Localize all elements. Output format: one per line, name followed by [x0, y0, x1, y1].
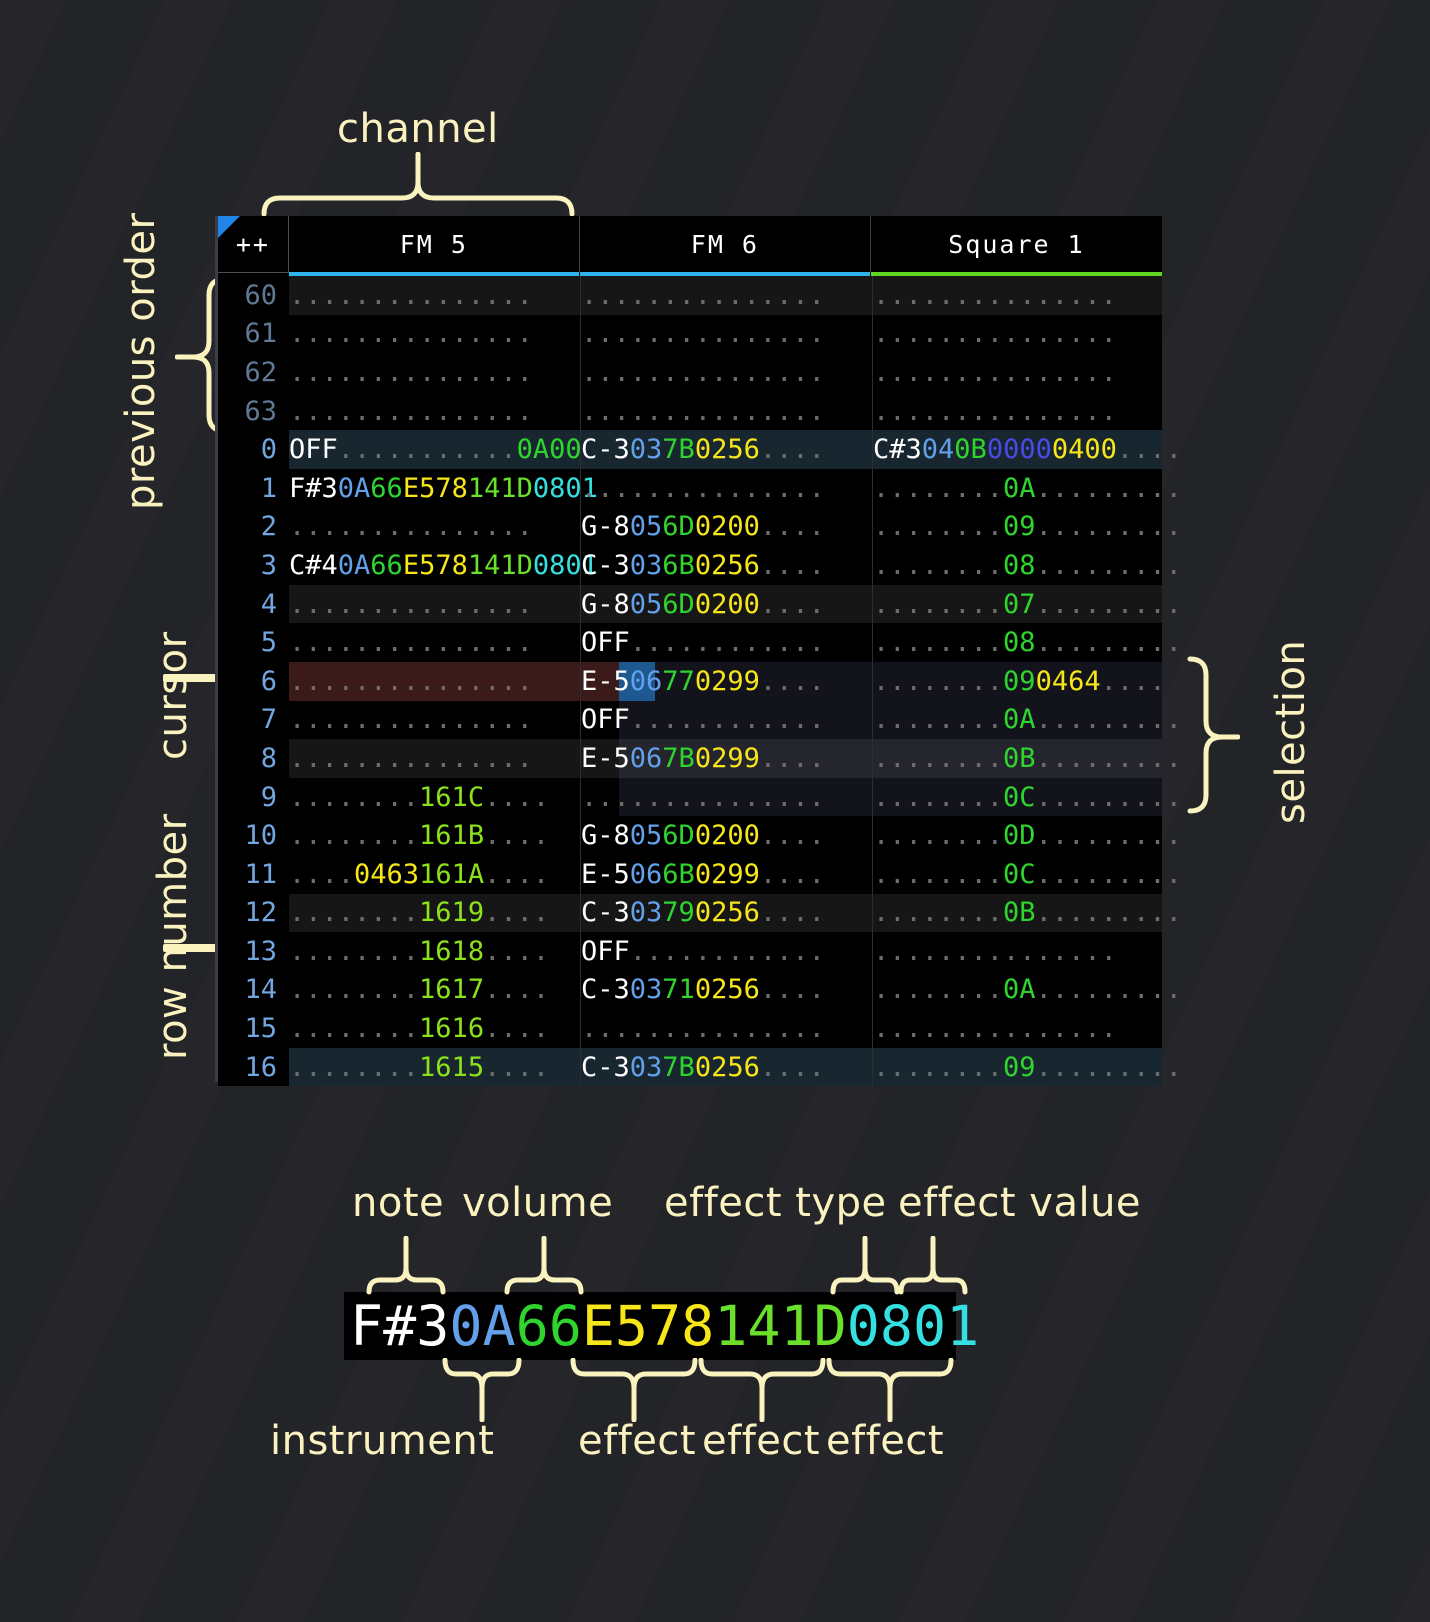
- row-cells: ........................................…: [289, 276, 1165, 315]
- cell-segment-vol: 0C: [1003, 859, 1036, 890]
- annotation-previous-order: previous order: [118, 213, 164, 510]
- annotation-effect-type: effect type: [664, 1180, 887, 1226]
- pattern-row[interactable]: 0OFF...........0A00C-3037B0256....C#3040…: [218, 430, 1162, 469]
- row-number: 63: [218, 392, 289, 431]
- row-number: 14: [218, 971, 289, 1010]
- pattern-cell[interactable]: ...............: [873, 353, 1165, 392]
- cell-segment-dot: ....: [1117, 434, 1182, 465]
- cell-segment-yel: 04: [1052, 434, 1085, 465]
- row-number: 2: [218, 508, 289, 547]
- cell-segment-ins: 05: [630, 820, 663, 851]
- cell-segment-ins: 03: [630, 897, 663, 928]
- channel-header-label: Square 1: [948, 230, 1084, 259]
- cell-segment-dot: ........: [289, 974, 419, 1005]
- cell-segment-vol: 09: [1003, 511, 1036, 542]
- cell-segment-dot: .........: [1036, 859, 1182, 890]
- cell-segment-dot: ...............: [873, 357, 1117, 388]
- pattern-cell[interactable]: ........08.........: [873, 546, 1165, 585]
- row-cells: ........1615....C-3037B0256............0…: [289, 1048, 1165, 1087]
- pattern-cell[interactable]: ...............: [289, 276, 581, 315]
- cell-segment-vol: 66: [370, 473, 403, 504]
- detail-segment-fxg: 1D: [781, 1294, 847, 1358]
- cell-segment-fx3: 08: [533, 473, 566, 504]
- pattern-cell[interactable]: OFF............: [581, 623, 873, 662]
- cell-segment-ins: 05: [630, 589, 663, 620]
- channel-header-fm6[interactable]: FM 6: [580, 216, 871, 272]
- row-number: 62: [218, 353, 289, 392]
- row-cells: ...............OFF....................08…: [289, 623, 1165, 662]
- header-divider: [218, 272, 289, 273]
- cell-segment-fx2: 6D: [662, 820, 695, 851]
- cell-segment-dot: ........: [873, 859, 1003, 890]
- row-cells: ........161B....G-8056D0200............0…: [289, 816, 1165, 855]
- pattern-row[interactable]: 63......................................…: [218, 392, 1162, 431]
- channel-header-fm5[interactable]: FM 5: [289, 216, 580, 272]
- cell-segment-dot: ....: [484, 1052, 549, 1083]
- cell-segment-fx2: 6B: [662, 550, 695, 581]
- row-number: 1: [218, 469, 289, 508]
- cell-segment-note: G-8: [581, 511, 630, 542]
- pattern-cell[interactable]: ...............: [581, 353, 873, 392]
- pattern-cell[interactable]: ...............: [873, 1009, 1165, 1048]
- row-cells: ...............E-506770299............09…: [289, 662, 1165, 701]
- cell-segment-note: C#3: [873, 434, 922, 465]
- cell-segment-dot: ...............: [581, 357, 825, 388]
- cell-segment-note: OFF: [581, 627, 630, 658]
- pattern-cell[interactable]: C-3036B0256....: [581, 546, 873, 585]
- cell-segment-fxg: 1D: [500, 550, 533, 581]
- cell-segment-dot: ....: [760, 897, 825, 928]
- row-number: 61: [218, 315, 289, 354]
- pattern-cell[interactable]: ...............: [581, 469, 873, 508]
- detail-segment-fx1: 78: [648, 1294, 714, 1358]
- cell-segment-dot: ........: [289, 1052, 419, 1083]
- pattern-cell[interactable]: ........0C.........: [873, 778, 1165, 817]
- cell-segment-dot: ....: [760, 666, 825, 697]
- row-cells: ........1618....OFF.....................…: [289, 932, 1165, 971]
- pattern-row[interactable]: 3C#40A66E578141D0801C-3036B0256.........…: [218, 546, 1162, 585]
- pattern-cell[interactable]: ...............: [289, 353, 581, 392]
- pattern-cell[interactable]: ........1619....: [289, 894, 581, 933]
- cell-segment-fx1: 02: [695, 743, 728, 774]
- pattern-row[interactable]: 8...............E-5067B0299............0…: [218, 739, 1162, 778]
- note-brace: [366, 1236, 446, 1296]
- cell-segment-dot: ...............: [289, 704, 533, 735]
- cell-segment-ins: 06: [630, 743, 663, 774]
- pattern-row[interactable]: 13........1618....OFF...................…: [218, 932, 1162, 971]
- pattern-row[interactable]: 11....0463161A....E-5066B0299...........…: [218, 855, 1162, 894]
- cell-segment-dot: ....: [760, 859, 825, 890]
- detail-segment-fxg: 14: [714, 1294, 780, 1358]
- cell-segment-vol: 00: [549, 434, 582, 465]
- cell-segment-dot: ....: [760, 974, 825, 1005]
- cell-segment-volb: 1615: [419, 1052, 484, 1083]
- row-number: 5: [218, 623, 289, 662]
- cell-segment-dot: ........: [873, 1052, 1003, 1083]
- cell-segment-note: C-3: [581, 974, 630, 1005]
- pattern-row[interactable]: 62......................................…: [218, 353, 1162, 392]
- cell-segment-dot: ....: [289, 859, 354, 890]
- cell-segment-dot: ....: [484, 897, 549, 928]
- cell-segment-fx2: 7B: [662, 1052, 695, 1083]
- pattern-cell[interactable]: C#40A66E578141D0801: [289, 546, 581, 585]
- cell-segment-fx1: 02: [695, 974, 728, 1005]
- pattern-cell[interactable]: ........0C.........: [873, 855, 1165, 894]
- pattern-cell[interactable]: OFF............: [581, 701, 873, 740]
- cell-segment-fx1: 00: [727, 820, 760, 851]
- pattern-cell[interactable]: ...............: [289, 508, 581, 547]
- corner-marker-icon: [218, 216, 240, 238]
- cell-segment-ins: 03: [630, 434, 663, 465]
- row-cells: ........................................…: [289, 392, 1165, 431]
- cell-segment-dot: ...............: [873, 936, 1117, 967]
- cell-segment-dot: ....: [484, 859, 549, 890]
- pattern-row[interactable]: 2...............G-8056D0200............0…: [218, 508, 1162, 547]
- row-cells: ........................................…: [289, 315, 1165, 354]
- cell-segment-dot: .........: [1036, 511, 1182, 542]
- channel-header-square1[interactable]: Square 1: [871, 216, 1162, 272]
- cell-segment-vol: 09: [1003, 666, 1036, 697]
- cell-segment-dot: ...............: [289, 666, 533, 697]
- row-number: 16: [218, 1048, 289, 1087]
- cell-segment-dot: .........: [1036, 1052, 1182, 1083]
- cell-segment-dot: ...............: [581, 473, 825, 504]
- cell-segment-fx1: 56: [727, 897, 760, 928]
- cell-segment-ins: 0A: [338, 550, 371, 581]
- pattern-cell[interactable]: ...............: [581, 315, 873, 354]
- pattern-cell[interactable]: ........09.........: [873, 508, 1165, 547]
- row-number: 10: [218, 816, 289, 855]
- row-number: 15: [218, 1009, 289, 1048]
- cell-segment-ins: 03: [630, 550, 663, 581]
- cell-segment-dot: ........: [873, 627, 1003, 658]
- cell-segment-dot: ...............: [581, 396, 825, 427]
- pattern-row[interactable]: 9........161C...........................…: [218, 778, 1162, 817]
- effect-c-brace: [826, 1358, 954, 1422]
- cell-segment-note: G-8: [581, 820, 630, 851]
- pattern-cell[interactable]: ........161C....: [289, 778, 581, 817]
- cell-segment-fxg: 14: [468, 473, 501, 504]
- pattern-cell[interactable]: E-5067B0299....: [581, 739, 873, 778]
- cell-segment-fx1: 02: [695, 589, 728, 620]
- cell-segment-fx1: 02: [695, 434, 728, 465]
- cell-segment-dot: .........: [1036, 897, 1182, 928]
- cell-segment-volb: 161C: [419, 782, 484, 813]
- cell-segment-fx1: 78: [435, 550, 468, 581]
- row-cells: ........1616............................…: [289, 1009, 1165, 1048]
- pattern-row[interactable]: 5...............OFF....................0…: [218, 623, 1162, 662]
- cell-segment-dot: ...............: [581, 1013, 825, 1044]
- row-number: 7: [218, 701, 289, 740]
- cell-segment-vol: 0A: [517, 434, 550, 465]
- pattern-cell[interactable]: ...............: [873, 932, 1165, 971]
- cell-segment-fx1: 99: [727, 859, 760, 890]
- cell-segment-ins: 03: [630, 974, 663, 1005]
- cell-segment-volb: 161A: [419, 859, 484, 890]
- pattern-cell[interactable]: G-8056D0200....: [581, 816, 873, 855]
- cell-segment-vol: 08: [1003, 627, 1036, 658]
- cell-segment-fx1: 00: [727, 589, 760, 620]
- pattern-cell[interactable]: C-3037B0256....: [581, 430, 873, 469]
- pattern-cell[interactable]: ........0A.........: [873, 701, 1165, 740]
- cell-segment-fx2: 77: [662, 666, 695, 697]
- row-number: 11: [218, 855, 289, 894]
- cell-segment-vol: 07: [1003, 589, 1036, 620]
- pattern-cell[interactable]: ........1618....: [289, 932, 581, 971]
- cell-segment-ins: 06: [630, 666, 663, 697]
- pattern-cell[interactable]: ........1615....: [289, 1048, 581, 1087]
- pattern-cell[interactable]: ........07.........: [873, 585, 1165, 624]
- row-number: 12: [218, 894, 289, 933]
- pattern-cell[interactable]: ........1616....: [289, 1009, 581, 1048]
- cell-segment-vol: 0D: [1003, 820, 1036, 851]
- cell-segment-note: OFF: [581, 936, 630, 967]
- pattern-row[interactable]: 1F#30A66E578141D0801....................…: [218, 469, 1162, 508]
- cell-segment-fx1: E5: [403, 550, 436, 581]
- cell-segment-dot: ............: [630, 627, 825, 658]
- row-cells: F#30A66E578141D0801.....................…: [289, 469, 1165, 508]
- detail-segment-note: F#3: [350, 1294, 449, 1358]
- cell-segment-dot: ....: [484, 820, 549, 851]
- effect-a-brace: [570, 1358, 698, 1422]
- cell-segment-fx1: 02: [695, 511, 728, 542]
- cell-segment-fx1: 02: [695, 666, 728, 697]
- cell-segment-dot: ...............: [581, 782, 825, 813]
- cell-segment-vol: 08: [1003, 550, 1036, 581]
- pattern-cell[interactable]: E-506770299....: [581, 662, 873, 701]
- effect-b-brace: [698, 1358, 826, 1422]
- pattern-cell[interactable]: C-3037B0256....: [581, 1048, 873, 1087]
- cell-segment-ins: 0A: [338, 473, 371, 504]
- cell-segment-dot: ........: [873, 820, 1003, 851]
- pattern-cell[interactable]: G-8056D0200....: [581, 508, 873, 547]
- cell-segment-yel: 00: [1084, 434, 1117, 465]
- cell-segment-fx1: 56: [727, 550, 760, 581]
- annotation-instrument: instrument: [270, 1418, 494, 1464]
- pattern-cell[interactable]: ...............: [873, 276, 1165, 315]
- cell-segment-fx1: 02: [695, 820, 728, 851]
- row-cells: OFF...........0A00C-3037B0256....C#3040B…: [289, 430, 1165, 469]
- row-cells: ...............G-8056D0200............07…: [289, 585, 1165, 624]
- annotation-volume: volume: [462, 1180, 613, 1226]
- annotation-cursor: cursor: [150, 631, 196, 760]
- pattern-editor[interactable]: ++ FM 5 FM 6 Square 1 60................…: [215, 216, 1162, 1082]
- row-cells: ....0463161A....E-5066B0299............0…: [289, 855, 1165, 894]
- cell-segment-yel: 0463: [354, 859, 419, 890]
- cell-segment-vol: 66: [370, 550, 403, 581]
- pattern-cell[interactable]: ...............: [289, 315, 581, 354]
- cell-segment-dot: ...............: [289, 396, 533, 427]
- annotation-effect-a: effect: [578, 1418, 696, 1464]
- pattern-row[interactable]: 12........1619....C-303790256...........…: [218, 894, 1162, 933]
- cell-segment-dot: .........: [1036, 627, 1182, 658]
- pattern-cell[interactable]: ........0A.........: [873, 971, 1165, 1010]
- pattern-cell[interactable]: ...............: [581, 778, 873, 817]
- cell-segment-dot: ........: [873, 743, 1003, 774]
- pattern-row[interactable]: 7...............OFF....................0…: [218, 701, 1162, 740]
- pattern-cell[interactable]: ...............: [289, 392, 581, 431]
- cell-segment-note: E-5: [581, 859, 630, 890]
- cell-segment-note: OFF: [581, 704, 630, 735]
- cell-segment-dot: ........: [289, 820, 419, 851]
- row-cells: ...............E-5067B0299............0B…: [289, 739, 1165, 778]
- cell-segment-fx2: 6B: [662, 859, 695, 890]
- channel-header-label: FM 6: [691, 230, 759, 259]
- pattern-cell[interactable]: ...............: [289, 739, 581, 778]
- cell-segment-dot: ...............: [873, 318, 1117, 349]
- pattern-row[interactable]: 6...............E-506770299............0…: [218, 662, 1162, 701]
- cell-segment-dot: ...............: [289, 318, 533, 349]
- pattern-cell[interactable]: ........0D.........: [873, 816, 1165, 855]
- cell-segment-yel: 0464: [1036, 666, 1101, 697]
- row-number: 8: [218, 739, 289, 778]
- cell-segment-dot: ....: [1101, 666, 1166, 697]
- cell-segment-fx1: 56: [727, 974, 760, 1005]
- cell-segment-dot: ....: [760, 589, 825, 620]
- volume-brace: [504, 1236, 584, 1296]
- pattern-cell[interactable]: C-303710256....: [581, 971, 873, 1010]
- cell-segment-dot: ............: [630, 704, 825, 735]
- cell-segment-dot: ........: [289, 782, 419, 813]
- cell-segment-dot: ...........: [338, 434, 517, 465]
- cell-segment-dot: .........: [1036, 550, 1182, 581]
- pattern-cell[interactable]: ........08.........: [873, 623, 1165, 662]
- pattern-row[interactable]: 61......................................…: [218, 315, 1162, 354]
- pattern-row[interactable]: 10........161B....G-8056D0200...........…: [218, 816, 1162, 855]
- row-number: 0: [218, 430, 289, 469]
- cell-segment-note: E-5: [581, 743, 630, 774]
- cell-segment-dot: ....: [760, 820, 825, 851]
- cell-segment-note: OFF: [289, 434, 338, 465]
- pattern-cell[interactable]: OFF...........0A00: [289, 430, 581, 469]
- pattern-cell[interactable]: C-303790256....: [581, 894, 873, 933]
- cell-segment-dot: ...............: [873, 396, 1117, 427]
- cell-segment-ins: 04: [922, 434, 955, 465]
- pattern-cell[interactable]: ...............: [581, 1009, 873, 1048]
- cell-segment-volb: 1616: [419, 1013, 484, 1044]
- cell-segment-note: F#3: [289, 473, 338, 504]
- pattern-row[interactable]: 15........1616..........................…: [218, 1009, 1162, 1048]
- pattern-cell[interactable]: ...............: [289, 623, 581, 662]
- pattern-cell[interactable]: ........0B.........: [873, 894, 1165, 933]
- annotation-row-number: row number: [150, 813, 196, 1060]
- selection-brace: [1180, 655, 1240, 815]
- cell-segment-fx2: 79: [662, 897, 695, 928]
- pattern-cell[interactable]: ........161B....: [289, 816, 581, 855]
- pattern-cell[interactable]: E-5066B0299....: [581, 855, 873, 894]
- cell-segment-note: E-5: [581, 666, 630, 697]
- pattern-cell[interactable]: OFF............: [581, 932, 873, 971]
- effect-value-brace: [898, 1236, 968, 1296]
- detail-segment-vol: 66: [516, 1294, 582, 1358]
- cell-segment-dot: ........: [873, 974, 1003, 1005]
- row-number: 13: [218, 932, 289, 971]
- cell-segment-fxg: 1D: [500, 473, 533, 504]
- pattern-cell[interactable]: ...............: [581, 276, 873, 315]
- cell-segment-fx1: E5: [403, 473, 436, 504]
- cell-segment-dot: ........: [873, 550, 1003, 581]
- cell-segment-dot: ....: [760, 743, 825, 774]
- row-number: 9: [218, 778, 289, 817]
- cell-segment-fx2: 0B: [954, 434, 987, 465]
- pattern-cell[interactable]: ...............: [289, 701, 581, 740]
- pattern-cell[interactable]: ........1617....: [289, 971, 581, 1010]
- row-cells: ...............OFF....................0A…: [289, 701, 1165, 740]
- instrument-brace: [442, 1358, 522, 1422]
- cell-segment-fx3: 08: [533, 550, 566, 581]
- cell-segment-ins: 05: [630, 511, 663, 542]
- cell-segment-fx1: 02: [695, 1052, 728, 1083]
- pattern-cell[interactable]: ...............: [873, 315, 1165, 354]
- cell-segment-dot: ...............: [581, 318, 825, 349]
- pattern-row[interactable]: 14........1617....C-303710256...........…: [218, 971, 1162, 1010]
- cell-segment-blue2: 00: [1019, 434, 1052, 465]
- cell-segment-note: G-8: [581, 589, 630, 620]
- example-pattern-cell: F#30A66E578141D0801: [344, 1292, 956, 1360]
- cell-segment-dot: .........: [1036, 589, 1182, 620]
- row-number: 4: [218, 585, 289, 624]
- cell-segment-fx2: 71: [662, 974, 695, 1005]
- pattern-cell[interactable]: C#3040B00000400....: [873, 430, 1165, 469]
- cell-segment-fx2: 7B: [662, 743, 695, 774]
- cell-segment-ins: 06: [630, 859, 663, 890]
- pattern-cell[interactable]: ........0A.........: [873, 469, 1165, 508]
- pattern-rows[interactable]: 60......................................…: [218, 276, 1162, 1082]
- row-cells: ........1619....C-303790256............0…: [289, 894, 1165, 933]
- cell-segment-fx1: 99: [727, 743, 760, 774]
- cell-segment-fx1: 00: [727, 511, 760, 542]
- cell-segment-dot: ........: [873, 704, 1003, 735]
- cell-segment-fx1: 56: [727, 434, 760, 465]
- row-cells: ........................................…: [289, 353, 1165, 392]
- cell-segment-volb: 1617: [419, 974, 484, 1005]
- pattern-cell[interactable]: ........09.........: [873, 1048, 1165, 1087]
- pattern-cell[interactable]: ...............: [873, 392, 1165, 431]
- pattern-cell[interactable]: ...............: [289, 662, 581, 701]
- cell-segment-fx2: 7B: [662, 434, 695, 465]
- cell-segment-dot: .........: [1036, 820, 1182, 851]
- row-cells: ........1617....C-303710256............0…: [289, 971, 1165, 1010]
- pattern-cell[interactable]: F#30A66E578141D0801: [289, 469, 581, 508]
- cell-segment-dot: .........: [1036, 743, 1182, 774]
- cell-segment-vol: 09: [1003, 1052, 1036, 1083]
- cell-segment-dot: .........: [1036, 782, 1182, 813]
- pattern-cell[interactable]: ....0463161A....: [289, 855, 581, 894]
- channel-header-label: FM 5: [400, 230, 468, 259]
- cell-segment-ins: 03: [630, 1052, 663, 1083]
- cell-segment-dot: ....: [484, 1013, 549, 1044]
- cell-segment-dot: ....: [760, 434, 825, 465]
- pattern-cell[interactable]: ...............: [289, 585, 581, 624]
- pattern-row[interactable]: 16........1615....C-3037B0256...........…: [218, 1048, 1162, 1087]
- cell-segment-note: C-3: [581, 434, 630, 465]
- cell-segment-dot: ........: [289, 936, 419, 967]
- cell-segment-note: C-3: [581, 1052, 630, 1083]
- cell-segment-dot: ...............: [289, 280, 533, 311]
- cell-segment-vol: 0A: [1003, 704, 1036, 735]
- pattern-row[interactable]: 4...............G-8056D0200............0…: [218, 585, 1162, 624]
- pattern-cell[interactable]: ...............: [581, 392, 873, 431]
- cell-segment-dot: ...............: [289, 743, 533, 774]
- detail-segment-fx3: 01: [913, 1294, 979, 1358]
- cell-segment-dot: ....: [484, 936, 549, 967]
- pattern-cell[interactable]: ........090464....: [873, 662, 1165, 701]
- pattern-cell[interactable]: ........0B.........: [873, 739, 1165, 778]
- annotation-effect-c: effect: [826, 1418, 944, 1464]
- cell-segment-note: C-3: [581, 897, 630, 928]
- pattern-cell[interactable]: G-8056D0200....: [581, 585, 873, 624]
- pattern-row[interactable]: 60......................................…: [218, 276, 1162, 315]
